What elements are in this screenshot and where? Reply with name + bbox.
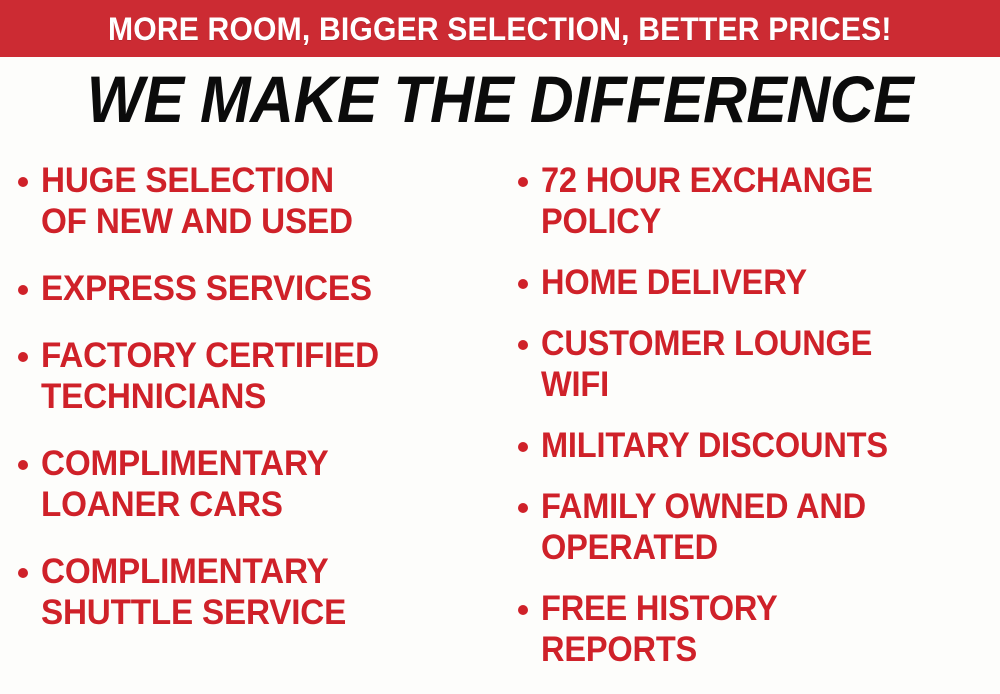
list-item-label: MILITARY DISCOUNTS — [541, 425, 966, 466]
bullet-dot-icon — [518, 605, 528, 615]
bullet-dot-icon — [518, 503, 528, 513]
list-item: COMPLIMENTARY LOANER CARS — [18, 443, 494, 525]
list-item: FACTORY CERTIFIED TECHNICIANS — [18, 335, 494, 417]
list-item-label: HOME DELIVERY — [541, 262, 966, 303]
bullet-dot-icon — [18, 460, 28, 470]
bullet-dot-icon — [18, 177, 28, 187]
list-item: FREE HISTORY REPORTS — [518, 588, 998, 670]
banner-headline-text: MORE ROOM, BIGGER SELECTION, BETTER PRIC… — [108, 13, 892, 45]
benefits-columns: HUGE SELECTION OF NEW AND USED EXPRESS S… — [0, 160, 1000, 694]
list-item-label: FACTORY CERTIFIED TECHNICIANS — [41, 335, 471, 417]
bullet-dot-icon — [518, 442, 528, 452]
page-title: WE MAKE THE DIFFERENCE — [40, 64, 960, 134]
list-item-label: COMPLIMENTARY LOANER CARS — [41, 443, 471, 525]
dealership-benefits-poster: MORE ROOM, BIGGER SELECTION, BETTER PRIC… — [0, 0, 1000, 694]
list-item: FAMILY OWNED AND OPERATED — [518, 486, 998, 568]
list-item-label: FREE HISTORY REPORTS — [541, 588, 966, 670]
benefits-column-left: HUGE SELECTION OF NEW AND USED EXPRESS S… — [0, 160, 500, 659]
bullet-dot-icon — [518, 340, 528, 350]
bullet-dot-icon — [18, 285, 28, 295]
list-item: MILITARY DISCOUNTS — [518, 425, 998, 466]
bullet-dot-icon — [18, 352, 28, 362]
list-item-label: HUGE SELECTION OF NEW AND USED — [41, 160, 471, 242]
list-item: CUSTOMER LOUNGE WIFI — [518, 323, 998, 405]
bullet-dot-icon — [18, 568, 28, 578]
list-item-label: CUSTOMER LOUNGE WIFI — [541, 323, 966, 405]
bullet-dot-icon — [518, 279, 528, 289]
list-item: 72 HOUR EXCHANGE POLICY — [518, 160, 998, 242]
list-item-label: COMPLIMENTARY SHUTTLE SERVICE — [41, 551, 471, 633]
list-item: HUGE SELECTION OF NEW AND USED — [18, 160, 494, 242]
list-item-label: EXPRESS SERVICES — [41, 268, 471, 309]
list-item-label: FAMILY OWNED AND OPERATED — [541, 486, 966, 568]
bullet-dot-icon — [518, 177, 528, 187]
list-item: COMPLIMENTARY SHUTTLE SERVICE — [18, 551, 494, 633]
list-item-label: 72 HOUR EXCHANGE POLICY — [541, 160, 966, 242]
list-item: EXPRESS SERVICES — [18, 268, 494, 309]
benefits-column-right: 72 HOUR EXCHANGE POLICY HOME DELIVERY CU… — [500, 160, 1000, 690]
top-banner: MORE ROOM, BIGGER SELECTION, BETTER PRIC… — [0, 0, 1000, 57]
list-item: HOME DELIVERY — [518, 262, 998, 303]
